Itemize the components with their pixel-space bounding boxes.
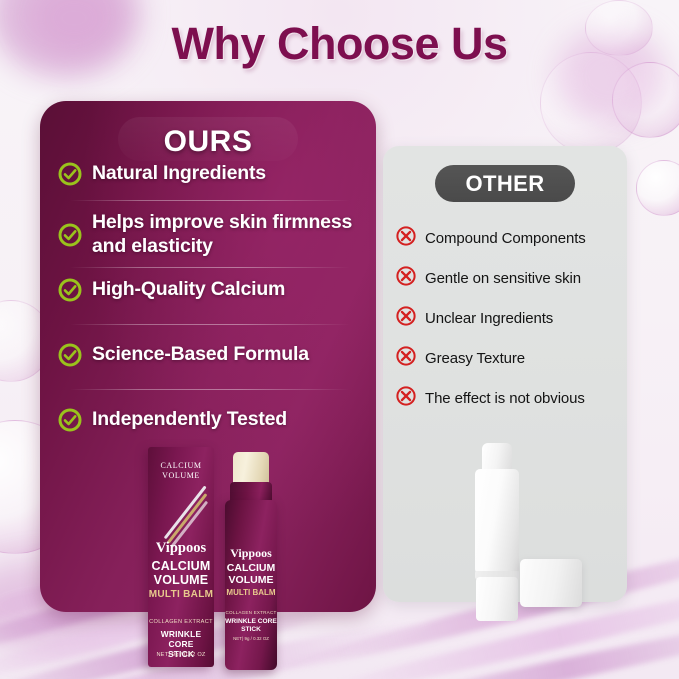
balm-top [233,452,269,486]
cross-circle-icon [395,385,417,412]
list-item-label: Independently Tested [92,407,287,431]
list-item: Compound Components [383,218,627,258]
cross-circle-icon [395,225,417,252]
list-item: Independently Tested [40,407,376,437]
box-subtitle: MULTI BALM [148,589,214,600]
other-drawback-list: Compound Components Gentle on sensitive … [383,218,627,418]
list-item: High-Quality Calcium [40,277,376,307]
list-item: Unclear Ingredients [383,298,627,338]
page-title: Why Choose Us [0,18,679,70]
cross-circle-icon [395,345,417,372]
check-circle-icon [58,343,82,372]
box-net-weight: NET) 9g / 0.32 OZ [148,652,214,658]
box-top-text: CALCIUMVOLUME [148,461,214,481]
competitor-stick-base [476,577,518,621]
check-circle-icon [58,162,82,191]
other-label: OTHER [435,165,575,202]
box-extract: COLLAGEN EXTRACT [148,619,214,625]
stick-net-weight: NET) 9g / 0.32 OZ [225,636,277,641]
competitor-stick-image [470,443,524,618]
stick-product-name: CALCIUMVOLUME [225,562,277,586]
stick-extract: COLLAGEN EXTRACT [225,610,277,615]
box-brand: Vippoos [148,540,214,557]
list-item-label: The effect is not obvious [425,389,585,408]
check-circle-icon [58,278,82,307]
ours-benefit-list: Natural Ingredients Helps improve skin f… [40,161,376,437]
box-product-name: CALCIUMVOLUME [148,559,214,587]
stick-type: WRINKLE CORESTICK [225,618,277,634]
infographic-canvas: Why Choose Us OURS Natural Ingredients H… [0,0,679,679]
list-item-label: Greasy Texture [425,349,525,368]
list-item-label: Helps improve skin firmness and elastici… [92,210,362,258]
list-item-label: Natural Ingredients [92,161,266,185]
competitor-stick-cap [520,559,582,607]
list-item: The effect is not obvious [383,378,627,418]
stick-body: Vippoos CALCIUMVOLUME MULTI BALM COLLAGE… [225,500,277,670]
divider [70,389,350,390]
list-item-label: Unclear Ingredients [425,309,553,328]
list-item: Science-Based Formula [40,342,376,372]
list-item-label: Gentle on sensitive skin [425,269,581,288]
check-circle-icon [58,223,82,252]
bubble-icon [612,62,679,138]
check-circle-icon [58,408,82,437]
ours-label: OURS [40,125,376,159]
cross-circle-icon [395,305,417,332]
stick-brand: Vippoos [225,546,277,561]
list-item-label: High-Quality Calcium [92,277,285,301]
divider [70,267,350,268]
divider [70,324,350,325]
list-item: Gentle on sensitive skin [383,258,627,298]
product-stick-image: Vippoos CALCIUMVOLUME MULTI BALM COLLAGE… [222,452,280,670]
list-item: Helps improve skin firmness and elastici… [40,210,376,258]
list-item: Greasy Texture [383,338,627,378]
divider [70,200,350,201]
list-item-label: Science-Based Formula [92,342,309,366]
list-item: Natural Ingredients [40,161,376,191]
competitor-stick-body [475,469,519,574]
list-item-label: Compound Components [425,229,586,248]
stick-subtitle: MULTI BALM [225,588,277,597]
bubble-icon [636,160,679,216]
box-stripe [167,493,207,543]
cross-circle-icon [395,265,417,292]
product-box-image: CALCIUMVOLUME Vippoos CALCIUMVOLUME MULT… [148,447,214,667]
